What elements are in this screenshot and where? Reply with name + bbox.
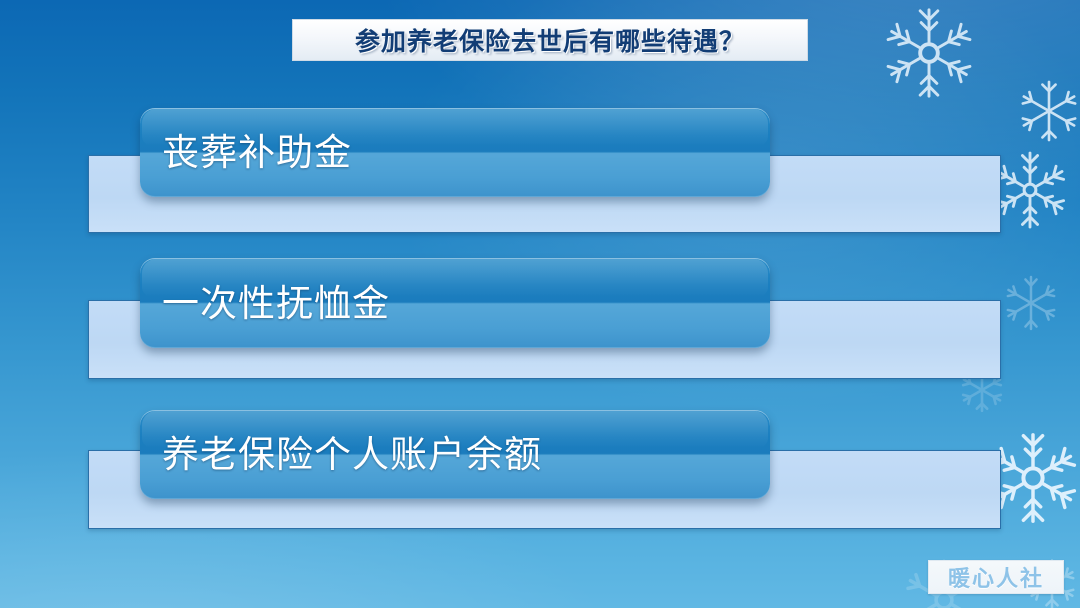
slide-canvas: 参加养老保险去世后有哪些待遇？ 丧葬补助金 一次性抚恤金 养老保险个人账户余额 …	[0, 0, 1080, 608]
page-title: 参加养老保险去世后有哪些待遇？	[355, 22, 745, 58]
snowflake-icon	[1016, 78, 1080, 144]
item-pill-3[interactable]: 养老保险个人账户余额	[140, 410, 770, 499]
snowflake-icon	[1000, 272, 1062, 334]
snowflake-icon	[880, 4, 978, 102]
slide-title-band: 参加养老保险去世后有哪些待遇？	[292, 19, 808, 61]
item-label-1: 丧葬补助金	[162, 134, 352, 171]
item-label-2: 一次性抚恤金	[162, 285, 390, 322]
watermark-text: 暖心人社	[948, 561, 1044, 593]
item-pill-2[interactable]: 一次性抚恤金	[140, 258, 770, 348]
item-pill-1[interactable]: 丧葬补助金	[140, 108, 770, 197]
watermark-logo: 暖心人社	[928, 560, 1064, 594]
item-label-3: 养老保险个人账户余额	[162, 436, 542, 473]
